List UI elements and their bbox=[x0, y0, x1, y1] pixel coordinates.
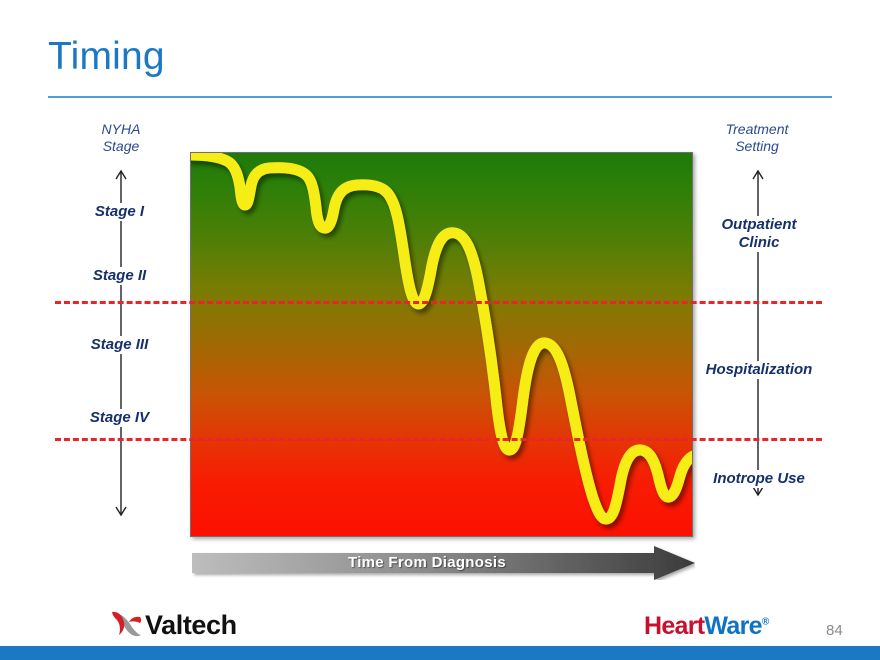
slide-canvas: Timing NYHA Stage Stage I Stage II bbox=[0, 0, 880, 660]
axis-label-stage-iv: Stage IV bbox=[56, 409, 183, 427]
title-divider bbox=[48, 96, 832, 98]
valtech-mark-icon bbox=[110, 610, 144, 640]
threshold-line-stage-iv-inotrope bbox=[55, 438, 822, 441]
nyha-caption-line-2: Stage bbox=[103, 138, 140, 154]
treatment-caption-line-2: Setting bbox=[735, 138, 779, 154]
heartware-heart-text: Heart bbox=[644, 612, 704, 640]
axis-label-stage-i: Stage I bbox=[56, 203, 183, 221]
axis-label-inotrope-use: Inotrope Use bbox=[686, 470, 832, 488]
page-title-block: Timing bbox=[48, 34, 832, 80]
registered-mark-icon: ® bbox=[762, 617, 769, 628]
nyha-caption-line-1: NYHA bbox=[102, 121, 141, 137]
time-axis-label: Time From Diagnosis bbox=[192, 546, 662, 580]
heartware-logo: HeartWare® bbox=[644, 612, 769, 641]
axis-label-stage-iii: Stage III bbox=[56, 336, 183, 354]
treatment-caption-line-1: Treatment bbox=[726, 121, 789, 137]
nyha-stage-caption: NYHA Stage bbox=[66, 121, 176, 155]
page-title: Timing bbox=[48, 34, 832, 80]
page-number: 84 bbox=[826, 622, 843, 639]
decline-curve bbox=[191, 153, 693, 537]
footer-bar bbox=[0, 646, 880, 660]
time-axis-arrow: Time From Diagnosis bbox=[192, 546, 695, 580]
threshold-line-stage-ii-iii bbox=[55, 301, 822, 304]
axis-label-outpatient-clinic: Outpatient Clinic bbox=[686, 216, 832, 252]
heartware-ware-text: Ware bbox=[704, 612, 761, 640]
axis-label-stage-ii: Stage II bbox=[56, 267, 183, 285]
valtech-wordmark: Valtech bbox=[145, 610, 237, 641]
chart-plot-area bbox=[190, 152, 693, 537]
valtech-logo: Valtech bbox=[110, 608, 237, 642]
treatment-setting-caption: Treatment Setting bbox=[697, 121, 817, 155]
axis-label-hospitalization: Hospitalization bbox=[686, 361, 832, 379]
